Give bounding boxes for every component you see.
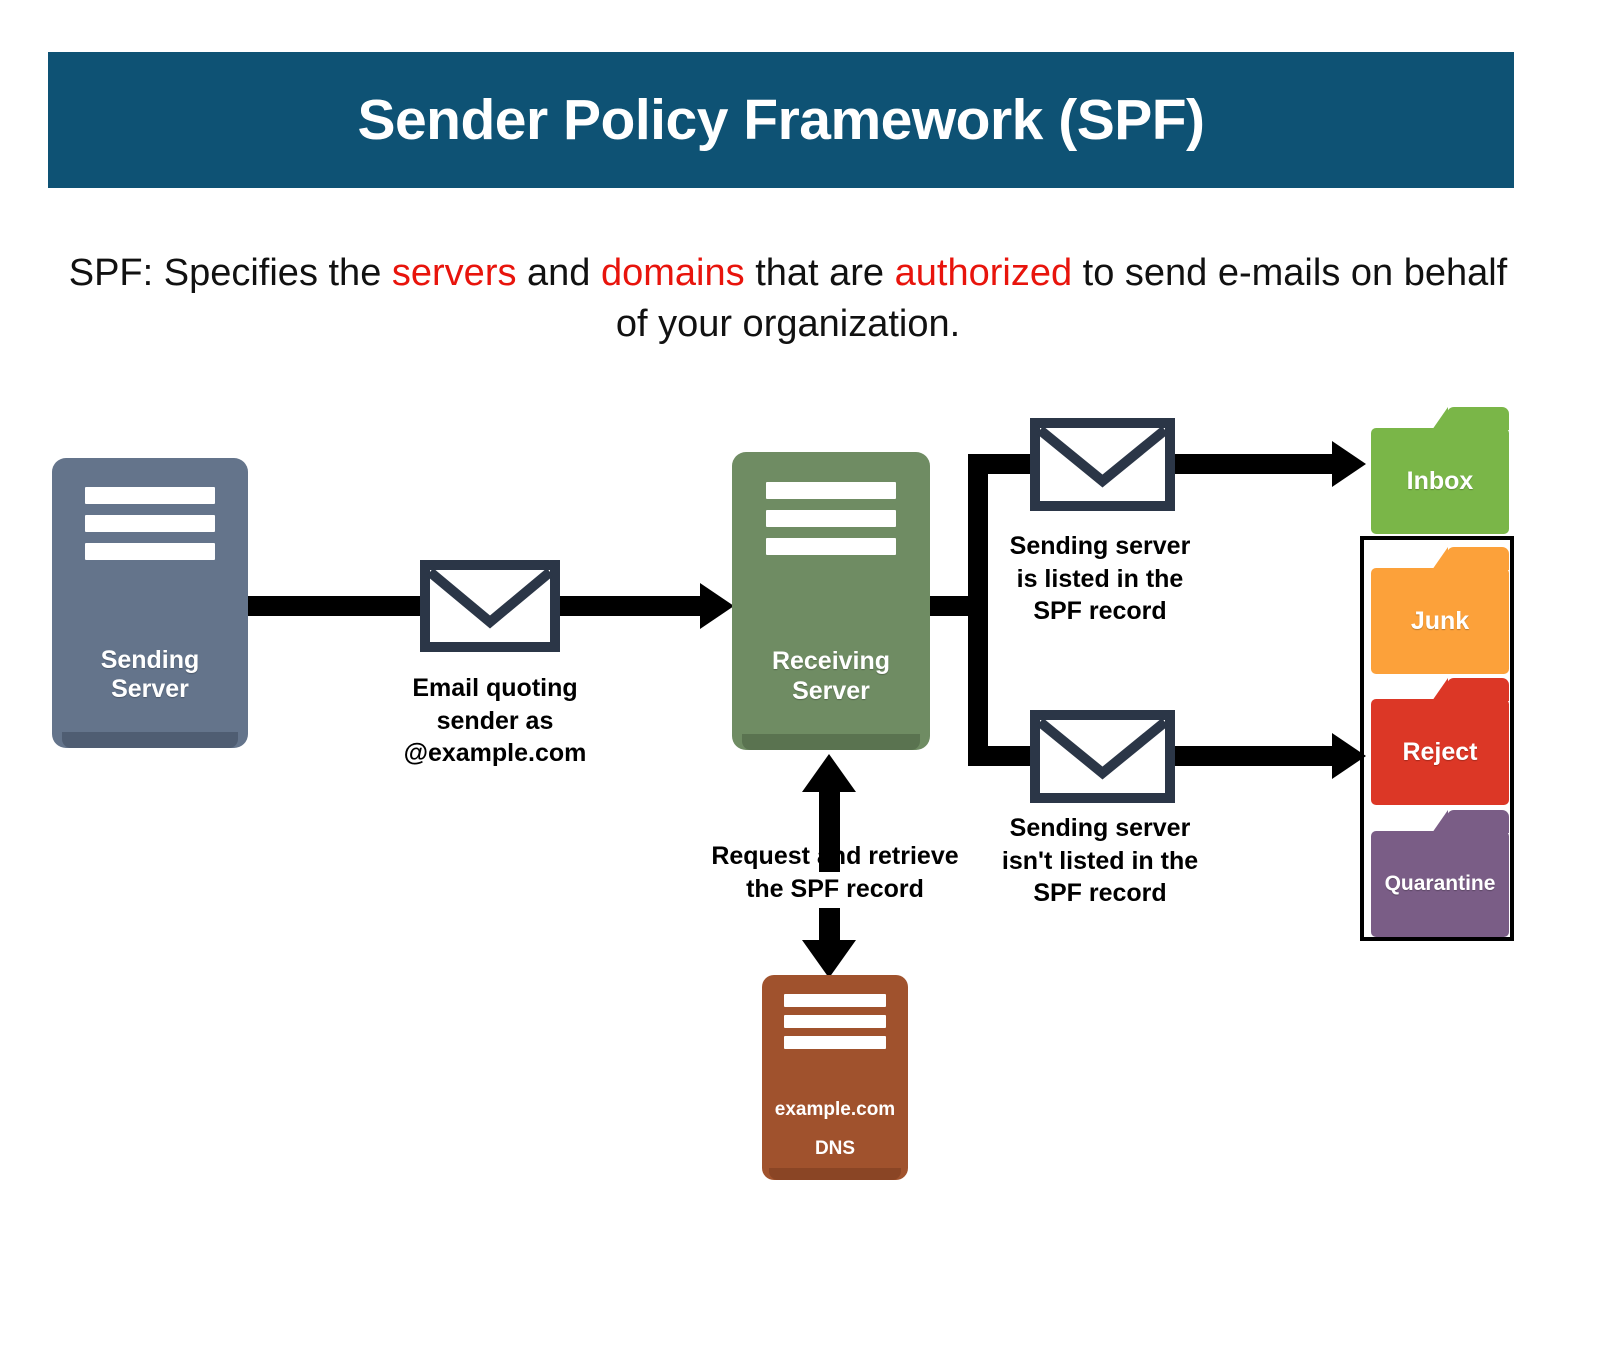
server-base <box>742 734 920 750</box>
folder-label: Junk <box>1411 607 1469 636</box>
node-sending-server: Sending Server <box>52 458 248 748</box>
header-banner: Sender Policy Framework (SPF) <box>48 52 1514 188</box>
folder-body: Quarantine <box>1371 831 1509 937</box>
label-spf-fail-line1: Sending server <box>955 812 1245 845</box>
spf-diagram-slide: Sender Policy Framework (SPF) SPF: Speci… <box>0 0 1600 1347</box>
dns-domain-label: example.com <box>775 1099 895 1122</box>
receiving-server-label-line2: Server <box>772 677 890 707</box>
label-dns-lookup: Request and retrieve the SPF record <box>690 840 980 905</box>
page-title: Sender Policy Framework (SPF) <box>357 92 1204 149</box>
arrowhead-dns-response <box>802 754 856 792</box>
folder-reject[interactable]: Reject <box>1371 699 1509 805</box>
label-spf-fail: Sending server isn't listed in the SPF r… <box>955 812 1245 910</box>
edge-sending-to-envelope <box>248 596 434 616</box>
edge-fail-right <box>1170 746 1336 766</box>
sending-server-label-line1: Sending <box>101 646 200 676</box>
dns-kind-label: DNS <box>775 1138 895 1160</box>
subtitle-prefix: SPF: Specifies the <box>69 252 392 294</box>
label-spf-fail-line2: isn't listed in the <box>955 845 1245 878</box>
envelope-icon-accepted <box>1030 418 1175 511</box>
subtitle-mid-2: that are <box>745 252 895 294</box>
folder-label: Inbox <box>1407 467 1474 496</box>
sending-server-label: Sending Server <box>101 646 200 705</box>
server-rack-bars <box>85 487 214 560</box>
folder-label: Reject <box>1402 738 1477 767</box>
server-rack-bars <box>766 482 897 555</box>
arrowhead-dns-query <box>802 940 856 978</box>
dns-server-label: example.com DNS <box>775 1099 895 1160</box>
label-dns-line1: Request and retrieve <box>690 840 980 873</box>
folder-tab-icon <box>1447 547 1509 570</box>
label-spf-pass-line1: Sending server <box>955 530 1245 563</box>
folder-label: Quarantine <box>1385 872 1496 896</box>
server-rack-bars <box>784 994 886 1049</box>
node-receiving-server: Receiving Server <box>732 452 930 750</box>
folder-tab-icon <box>1447 407 1509 430</box>
subtitle-mid-1: and <box>516 252 601 294</box>
label-email-line2: sender as <box>350 705 640 738</box>
subtitle-highlight-domains: domains <box>601 252 745 294</box>
node-dns-server: example.com DNS <box>762 975 908 1180</box>
arrowhead-to-receiving <box>700 583 734 629</box>
label-email-quoting-sender: Email quoting sender as @example.com <box>350 672 640 770</box>
envelope-icon-outbound <box>420 560 560 652</box>
folder-body: Inbox <box>1371 428 1509 534</box>
server-base <box>62 732 238 748</box>
folder-junk[interactable]: Junk <box>1371 568 1509 674</box>
folder-inbox[interactable]: Inbox <box>1371 428 1509 534</box>
label-spf-pass-line2: is listed in the <box>955 563 1245 596</box>
folder-body: Junk <box>1371 568 1509 674</box>
edge-pass-right <box>1170 454 1336 474</box>
receiving-server-label: Receiving Server <box>772 647 890 706</box>
receiving-server-label-line1: Receiving <box>772 647 890 677</box>
envelope-icon-rejected <box>1030 710 1175 803</box>
subtitle-text: SPF: Specifies the servers and domains t… <box>60 248 1516 351</box>
label-email-line1: Email quoting <box>350 672 640 705</box>
label-spf-fail-line3: SPF record <box>955 877 1245 910</box>
label-spf-pass: Sending server is listed in the SPF reco… <box>955 530 1245 628</box>
edge-envelope-to-receiving <box>554 596 704 616</box>
folder-tab-icon <box>1447 678 1509 701</box>
subtitle-highlight-servers: servers <box>392 252 517 294</box>
label-spf-pass-line3: SPF record <box>955 595 1245 628</box>
sending-server-label-line2: Server <box>101 675 200 705</box>
label-dns-line2: the SPF record <box>690 873 980 906</box>
folder-body: Reject <box>1371 699 1509 805</box>
arrowhead-to-inbox <box>1332 441 1366 487</box>
label-email-line3: @example.com <box>350 737 640 770</box>
folder-tab-icon <box>1447 810 1509 833</box>
folder-quarantine[interactable]: Quarantine <box>1371 831 1509 937</box>
subtitle-highlight-authorized: authorized <box>895 252 1072 294</box>
server-base <box>769 1168 900 1180</box>
